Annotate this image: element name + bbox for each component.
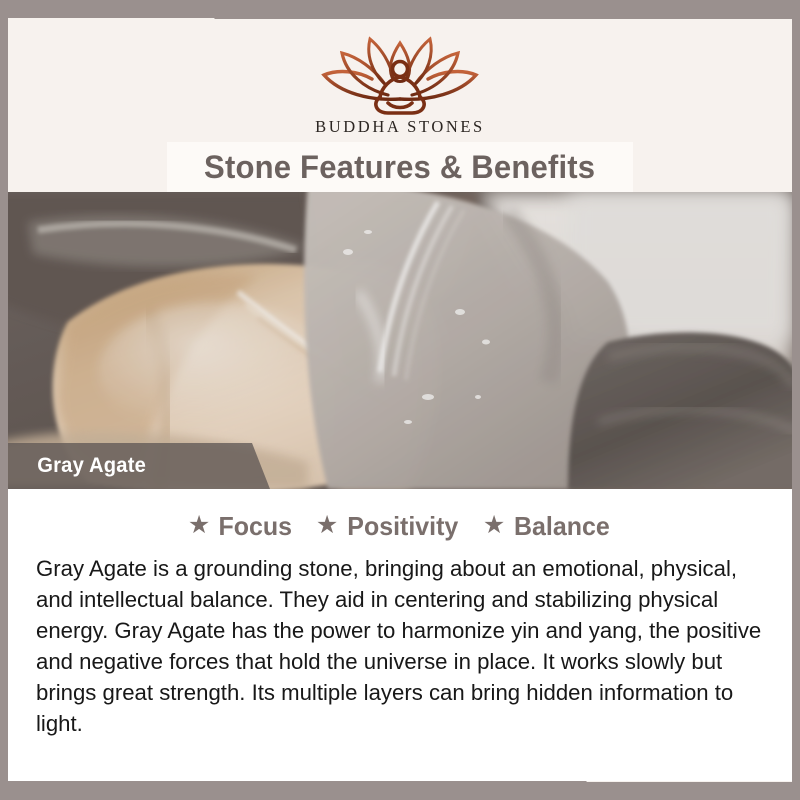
stone-description: Gray Agate is a grounding stone, bringin… — [36, 553, 771, 739]
star-icon: ★ — [483, 513, 505, 538]
benefits-row: ★ Focus ★ Positivity ★ Balance — [36, 511, 764, 542]
benefit-item-focus: ★ Focus — [188, 511, 294, 542]
stone-name-banner: Gray Agate — [8, 443, 270, 489]
frame-edge-right — [792, 0, 800, 800]
frame-band-bottom — [0, 781, 800, 800]
frame-edge-left — [0, 0, 8, 800]
benefit-item-positivity: ★ Positivity — [316, 511, 461, 542]
brand-name: BUDDHA STONES — [315, 117, 485, 137]
poster-root: BUDDHA STONES Stone Features & Benefits — [0, 0, 800, 800]
page-title: Stone Features & Benefits — [204, 149, 595, 186]
benefit-label: Balance — [514, 511, 610, 542]
star-icon: ★ — [188, 513, 210, 538]
content-area: ★ Focus ★ Positivity ★ Balance Gray Agat… — [8, 489, 792, 781]
frame-band-top — [0, 0, 800, 19]
lotus-meditation-figure-icon — [314, 29, 486, 115]
benefit-label: Positivity — [348, 511, 459, 542]
benefit-label: Focus — [219, 511, 293, 542]
page-title-plaque: Stone Features & Benefits — [167, 142, 633, 192]
brand-logo: BUDDHA STONES — [314, 29, 486, 137]
benefit-item-balance: ★ Balance — [483, 511, 612, 542]
star-icon: ★ — [316, 513, 338, 538]
stone-name-label: Gray Agate — [37, 454, 146, 478]
